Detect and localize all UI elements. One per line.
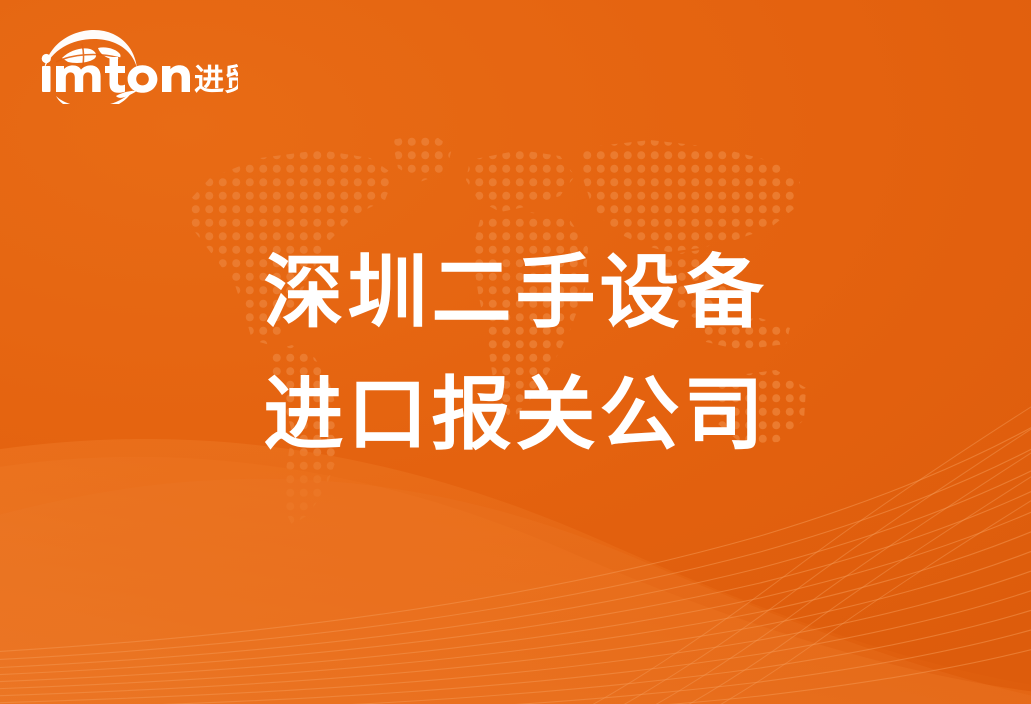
bottom-swoosh-icon <box>56 90 137 104</box>
banner-root: 进贸通 R 深圳二手设备 进口报关公司 <box>0 0 1031 704</box>
logo-wordmark-chinese: 进贸通 <box>194 63 238 98</box>
globe-swoosh-icon <box>44 30 137 70</box>
logo-wordmark-latin <box>42 54 190 93</box>
logo[interactable]: 进贸通 R <box>38 26 238 104</box>
wave-and-line-decorations <box>0 0 1031 704</box>
